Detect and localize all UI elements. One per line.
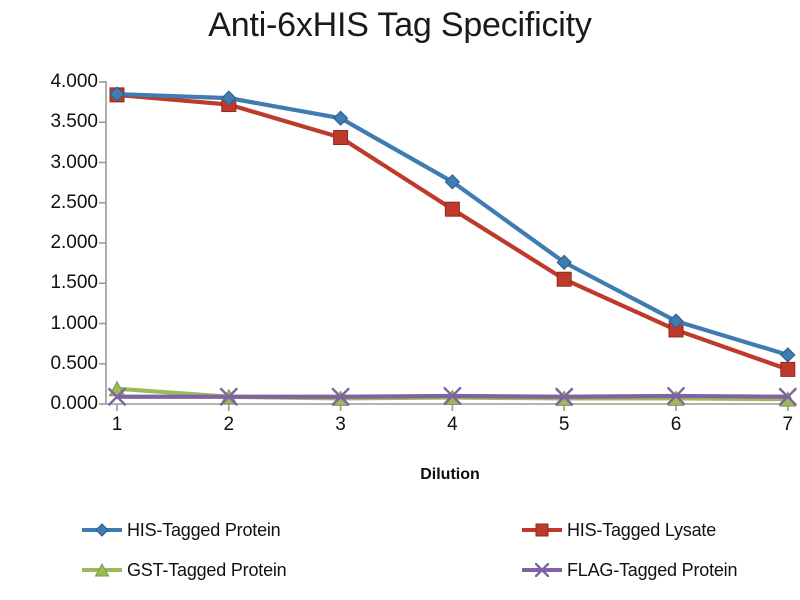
legend-item[interactable]: HIS-Tagged Lysate bbox=[522, 516, 716, 544]
legend-label: HIS-Tagged Protein bbox=[127, 520, 281, 541]
chart-legend: HIS-Tagged ProteinHIS-Tagged LysateGST-T… bbox=[60, 508, 800, 594]
legend-marker bbox=[95, 523, 109, 537]
x-axis-tick-label: 4 bbox=[422, 414, 482, 436]
square-marker-icon bbox=[522, 520, 562, 540]
data-point-marker bbox=[334, 131, 348, 145]
data-point-marker bbox=[96, 524, 108, 536]
data-point-marker bbox=[781, 362, 795, 376]
series-his-tagged-protein bbox=[110, 87, 795, 362]
x-axis-tick-label: 3 bbox=[311, 414, 371, 436]
x-axis-label: Dilution bbox=[105, 466, 795, 484]
legend-marker bbox=[535, 523, 549, 537]
legend-label: GST-Tagged Protein bbox=[127, 560, 287, 581]
legend-label: FLAG-Tagged Protein bbox=[567, 560, 737, 581]
legend-item[interactable]: GST-Tagged Protein bbox=[82, 556, 287, 584]
legend-marker bbox=[95, 563, 109, 577]
legend-item[interactable]: FLAG-Tagged Protein bbox=[522, 556, 737, 584]
legend-marker bbox=[535, 563, 549, 577]
legend-item[interactable]: HIS-Tagged Protein bbox=[82, 516, 281, 544]
data-point-marker bbox=[557, 272, 571, 286]
data-point-marker bbox=[536, 524, 548, 536]
triangle-marker-icon bbox=[82, 560, 122, 580]
cross-marker-icon bbox=[522, 560, 562, 580]
chart-page: Anti-6xHIS Tag Specificity OD450nm 0.000… bbox=[0, 0, 800, 600]
x-axis-tick-label: 2 bbox=[199, 414, 259, 436]
series-his-tagged-lysate bbox=[110, 88, 795, 377]
data-point-marker bbox=[535, 563, 549, 577]
axes bbox=[99, 81, 796, 411]
diamond-marker-icon bbox=[82, 520, 122, 540]
x-axis-tick-label: 6 bbox=[646, 414, 706, 436]
data-point-marker bbox=[781, 348, 795, 362]
legend-label: HIS-Tagged Lysate bbox=[567, 520, 716, 541]
x-axis-tick-label: 7 bbox=[758, 414, 800, 436]
data-point-marker bbox=[96, 564, 109, 576]
x-axis-tick-label: 5 bbox=[534, 414, 594, 436]
data-point-marker bbox=[445, 202, 459, 216]
x-axis-tick-label: 1 bbox=[87, 414, 147, 436]
